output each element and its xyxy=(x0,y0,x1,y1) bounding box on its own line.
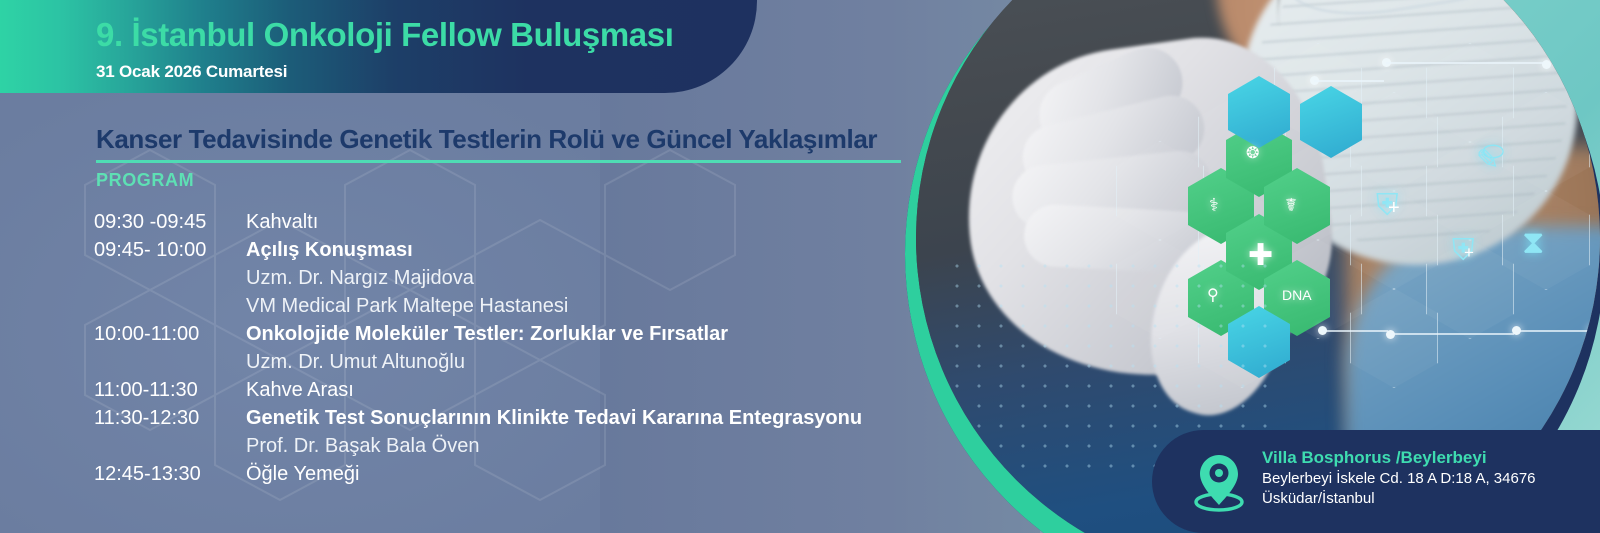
schedule-row: 12:45-13:30Öğle Yemeği xyxy=(94,460,954,488)
schedule-row: 11:00-11:30Kahve Arası xyxy=(94,376,954,404)
schedule-entry: VM Medical Park Maltepe Hastanesi xyxy=(246,292,568,320)
schedule-row: 10:00-11:00Onkolojide Moleküler Testler:… xyxy=(94,320,954,348)
session-subject: Kanser Tedavisinde Genetik Testlerin Rol… xyxy=(96,124,877,155)
schedule-time: 11:30-12:30 xyxy=(94,404,246,432)
schedule-row: VM Medical Park Maltepe Hastanesi xyxy=(94,292,954,320)
schedule-entry: Onkolojide Moleküler Testler: Zorluklar … xyxy=(246,320,728,348)
schedule-time: 09:30 -09:45 xyxy=(94,208,246,236)
schedule-row: Prof. Dr. Başak Bala Öven xyxy=(94,432,954,460)
schedule-row: 09:30 -09:45Kahvaltı xyxy=(94,208,954,236)
schedule-entry: Kahve Arası xyxy=(246,376,354,404)
event-date: 31 Ocak 2026 Cumartesi xyxy=(96,62,287,82)
venue-name: Villa Bosphorus /Beylerbeyi xyxy=(1262,448,1487,468)
schedule-time: 11:00-11:30 xyxy=(94,376,246,404)
schedule-entry: Prof. Dr. Başak Bala Öven xyxy=(246,432,479,460)
schedule-time: 12:45-13:30 xyxy=(94,460,246,488)
schedule-row: 09:45- 10:00Açılış Konuşması xyxy=(94,236,954,264)
venue-address-line1: Beylerbeyi İskele Cd. 18 A D:18 A, 34676 xyxy=(1262,470,1536,487)
schedule-row: Uzm. Dr. Nargız Majidova xyxy=(94,264,954,292)
map-pin-icon xyxy=(1188,450,1250,512)
header-bar: 9. İstanbul Onkoloji Fellow Buluşması 31… xyxy=(0,0,757,93)
schedule-row: 11:30-12:30Genetik Test Sonuçlarının Kli… xyxy=(94,404,954,432)
schedule-entry: Genetik Test Sonuçlarının Klinikte Tedav… xyxy=(246,404,862,432)
venue-address-line2: Üsküdar/İstanbul xyxy=(1262,490,1375,507)
subject-underline xyxy=(96,160,901,163)
schedule-row: Uzm. Dr. Umut Altunoğlu xyxy=(94,348,954,376)
program-label: PROGRAM xyxy=(96,170,194,191)
schedule-time: 10:00-11:00 xyxy=(94,320,246,348)
schedule-entry: Uzm. Dr. Umut Altunoğlu xyxy=(246,348,465,376)
schedule-entry: Uzm. Dr. Nargız Majidova xyxy=(246,264,474,292)
schedule-time: 09:45- 10:00 xyxy=(94,236,246,264)
event-banner: ✚ ⚕ ☤ ⚲ DNA ❂ ⛨ + ⛨ + ⬭ ✎ ⧗ xyxy=(0,0,1600,533)
schedule-entry: Açılış Konuşması xyxy=(246,236,413,264)
schedule-entry: Öğle Yemeği xyxy=(246,460,359,488)
program-schedule: 09:30 -09:45Kahvaltı09:45- 10:00Açılış K… xyxy=(94,208,954,488)
location-badge[interactable]: Villa Bosphorus /Beylerbeyi Beylerbeyi İ… xyxy=(1152,430,1600,533)
event-title: 9. İstanbul Onkoloji Fellow Buluşması xyxy=(96,16,673,54)
schedule-entry: Kahvaltı xyxy=(246,208,318,236)
